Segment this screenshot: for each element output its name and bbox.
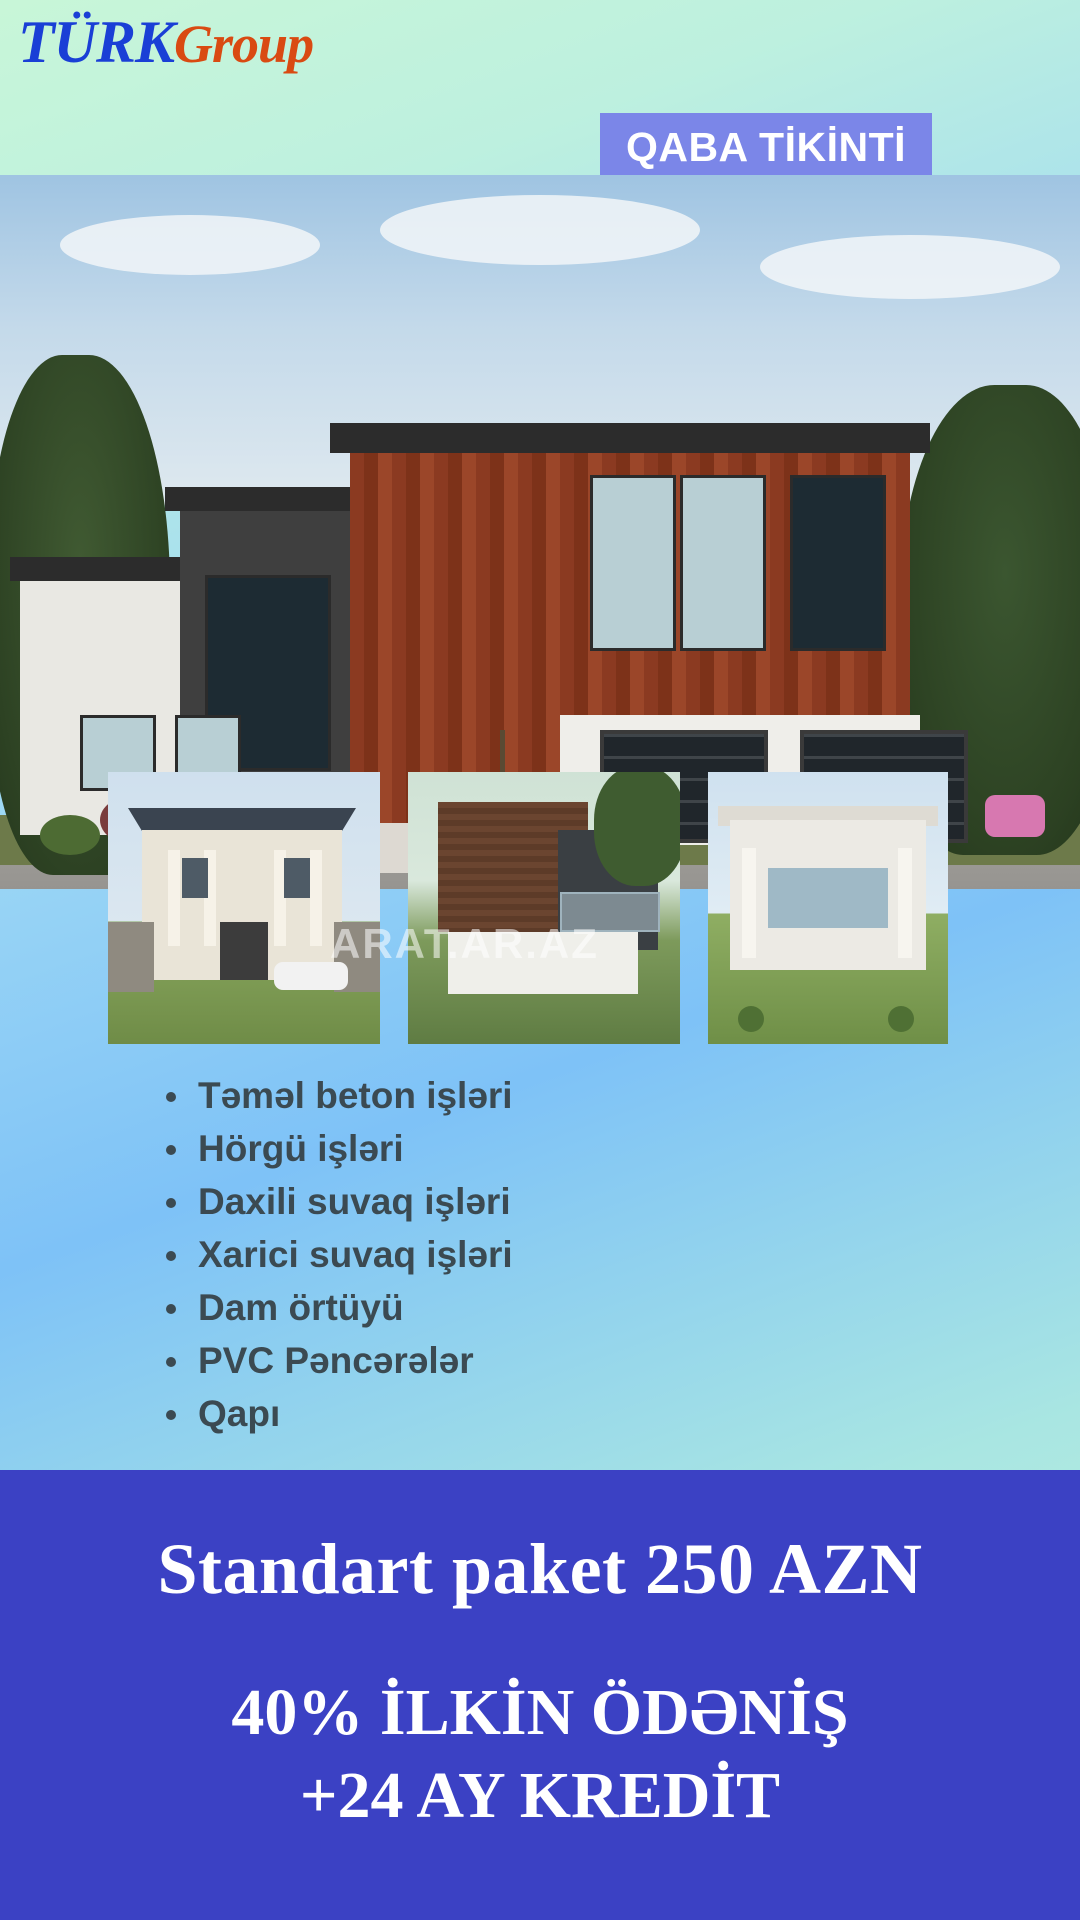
price-text: Standart paket 250 AZN [0,1528,1080,1611]
header: TÜRKGroup QABA TİKİNTİ [0,0,1080,175]
list-item: Təməl beton işləri [150,1070,950,1122]
glass-wall [768,868,888,928]
feature-list: Təməl beton işləri Hörgü işləri Daxili s… [150,1070,950,1441]
side-wall [108,922,154,992]
list-item: PVC Pəncərələr [150,1335,950,1387]
window [182,858,208,898]
column [168,850,180,946]
category-badge: QABA TİKİNTİ [600,113,932,181]
list-item: Qapı [150,1388,950,1440]
window [590,475,676,651]
column [742,848,756,958]
window [680,475,766,651]
list-item: Daxili suvaq işləri [150,1176,950,1228]
list-item: Hörgü işləri [150,1123,950,1175]
balcony-railing [560,892,660,932]
house-main-roof [330,423,930,453]
promo-poster: TÜRKGroup QABA TİKİNTİ [0,0,1080,1920]
thumbnail-classical-villa[interactable] [108,772,380,1044]
window [790,475,886,651]
payment-terms-line1: 40% İLKİN ÖDƏNİŞ [0,1675,1080,1751]
list-item: Xarici suvaq işləri [150,1229,950,1281]
tree [594,772,680,886]
white-base [448,932,638,994]
price-banner: Standart paket 250 AZN 40% İLKİN ÖDƏNİŞ … [0,1470,1080,1920]
thumbnail-gallery [108,772,972,1044]
scooter [985,795,1045,837]
shrub [888,1006,914,1032]
shrub [738,1006,764,1032]
category-badge-label: QABA TİKİNTİ [626,124,906,171]
cloud-icon [60,215,320,275]
column [898,848,912,958]
car [274,962,348,990]
entrance-door [220,922,268,980]
payment-terms-line2: +24 AY KREDİT [0,1758,1080,1834]
brand-name-secondary: Group [174,14,313,74]
cloud-icon [380,195,700,265]
thumbnail-modern-wood-house[interactable] [408,772,680,1044]
brand-logo: TÜRKGroup [18,8,313,77]
window [284,858,310,898]
cloud-icon [760,235,1060,299]
list-item: Dam örtüyü [150,1282,950,1334]
column [310,850,322,946]
brand-name-primary: TÜRK [18,9,174,75]
shrub [40,815,100,855]
thumbnail-white-villa[interactable] [708,772,948,1044]
